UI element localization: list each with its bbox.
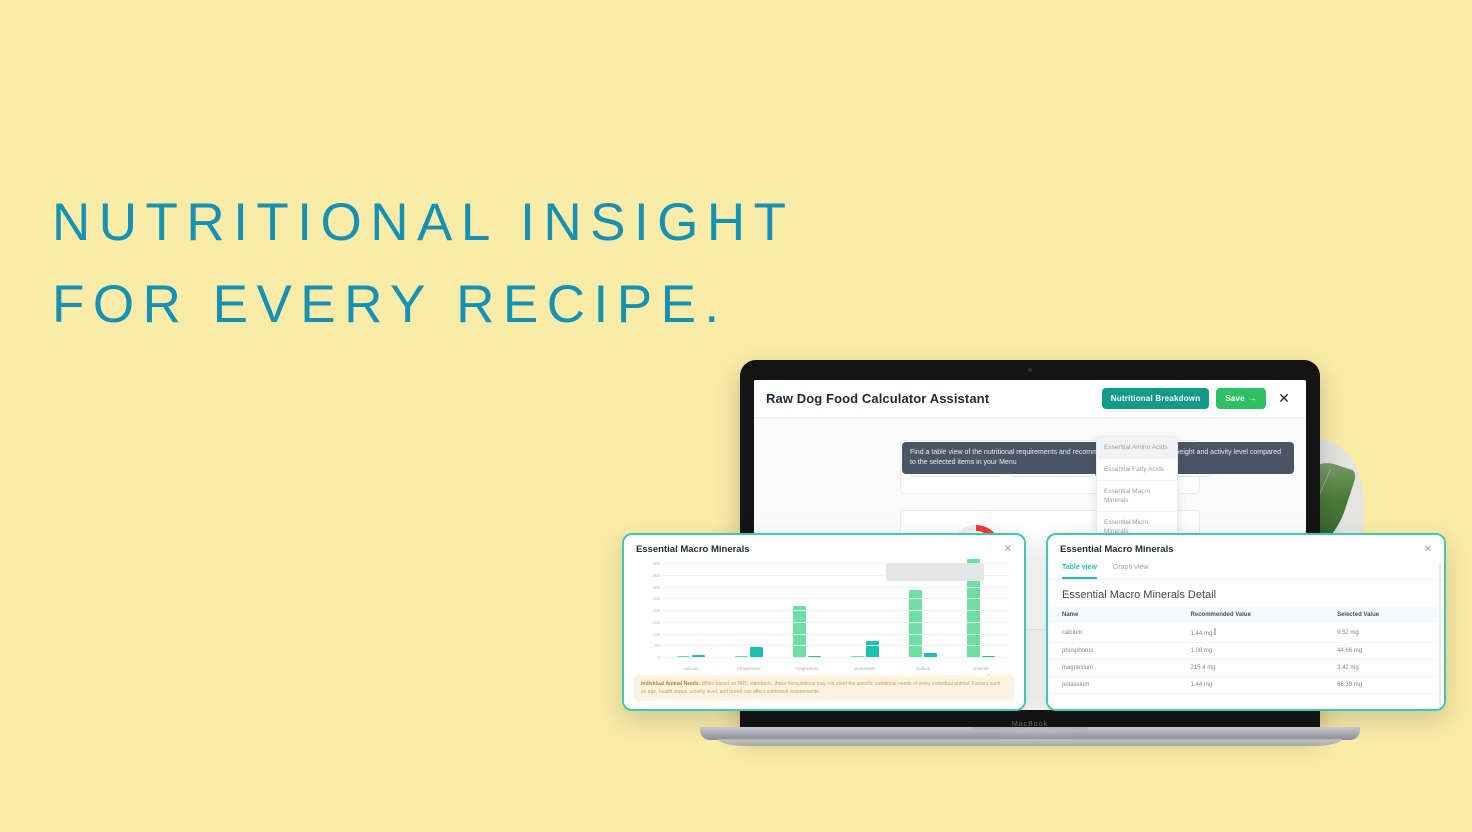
- individual-animal-needs-note: Individual Animal Needs: While based on …: [634, 675, 1014, 701]
- chart-close-icon[interactable]: ✕: [1004, 545, 1012, 555]
- cell-name: calcium: [1048, 623, 1191, 643]
- save-button-label: Save: [1225, 394, 1244, 403]
- table-row[interactable]: magnesium215.4 mg3.42 mg: [1048, 660, 1444, 677]
- chart-x-tick: potassium: [836, 666, 894, 671]
- chart-y-tick: 150: [636, 620, 660, 625]
- chart-y-tick: 200: [636, 608, 660, 613]
- chart-y-tick: 400: [636, 561, 660, 566]
- cell-name: magnesium: [1048, 660, 1191, 677]
- cell-selected-value: 3.42 mg: [1337, 660, 1444, 677]
- hero-headline: NUTRITIONAL INSIGHT FOR EVERY RECIPE.: [52, 182, 912, 346]
- cell-recommended-value: 1.08 mg: [1191, 643, 1338, 660]
- chart-x-tick: phosphorus: [720, 666, 778, 671]
- chart-x-tick: calcium: [662, 666, 720, 671]
- chart-y-tick: 50: [636, 643, 660, 648]
- table-panel: Essential Macro Minerals ✕ Table view Gr…: [1046, 533, 1446, 711]
- table-header-row: Name Recommended Value Selected Value: [1048, 607, 1444, 623]
- nutritional-breakdown-button[interactable]: Nutritional Breakdown: [1102, 388, 1210, 409]
- cell-recommended-value: 215.4 mg: [1191, 660, 1338, 677]
- chart-y-tick: 250: [636, 596, 660, 601]
- cell-recommended-value: 1.44 mg: [1191, 677, 1338, 694]
- column-selected-value: Selected Value: [1337, 607, 1444, 623]
- chart-y-tick: 0: [636, 655, 660, 660]
- cell-selected-value: 66.39 mg: [1337, 677, 1444, 694]
- app-title: Raw Dog Food Calculator Assistant: [766, 391, 989, 406]
- table-row[interactable]: phosphorus1.08 mg44.66 mg: [1048, 643, 1444, 660]
- tab-table-view[interactable]: Table view: [1062, 560, 1097, 579]
- dropdown-item-amino-acids[interactable]: Essential Amino Acids: [1097, 437, 1177, 459]
- table-close-icon[interactable]: ✕: [1424, 545, 1432, 555]
- cell-selected-value: 9.52 mg: [1337, 623, 1444, 643]
- chart-x-axis: calciumphosphorusmagnesiumpotassiumsodiu…: [662, 666, 1010, 671]
- save-button[interactable]: Save →: [1216, 388, 1266, 409]
- chart-gridline: [662, 634, 1010, 635]
- table-row[interactable]: potassium1.44 mg66.39 mg: [1048, 677, 1444, 694]
- minerals-table: Name Recommended Value Selected Value ca…: [1048, 607, 1444, 694]
- chart-panel: Essential Macro Minerals ✕ 4003503002502…: [622, 533, 1026, 711]
- chart-y-tick: 100: [636, 632, 660, 637]
- chart-x-tick: magnesium: [778, 666, 836, 671]
- app-header: Raw Dog Food Calculator Assistant Nutrit…: [754, 380, 1306, 418]
- cell-recommended-value: 1.44 mg: [1191, 623, 1338, 643]
- table-panel-title: Essential Macro Minerals: [1060, 544, 1174, 555]
- laptop-foot: [718, 739, 1342, 746]
- chart-x-tick: sodium: [894, 666, 952, 671]
- panel-tabs: Table view Graph view: [1048, 560, 1444, 580]
- text-cursor-icon: [1215, 628, 1216, 635]
- dropdown-item-macro-minerals[interactable]: Essential Macro Minerals: [1097, 481, 1177, 512]
- dropdown-item-fatty-acids[interactable]: Essential Fatty Acids: [1097, 459, 1177, 481]
- table-body: calcium1.44 mg9.52 mgphosphorus1.08 mg44…: [1048, 623, 1444, 694]
- chart-y-tick: 300: [636, 585, 660, 590]
- chart-bar[interactable]: [909, 590, 922, 657]
- headline-line-2: FOR EVERY RECIPE.: [52, 264, 912, 346]
- table-row[interactable]: calcium1.44 mg9.52 mg: [1048, 623, 1444, 643]
- chart-hover-tooltip: [886, 563, 984, 581]
- webcam-icon: [1028, 368, 1032, 372]
- chart-gridline: [662, 610, 1010, 611]
- chart-bar[interactable]: [750, 647, 763, 657]
- tab-graph-view[interactable]: Graph view: [1113, 560, 1148, 579]
- chart-panel-title: Essential Macro Minerals: [636, 544, 750, 555]
- chart-bar[interactable]: [866, 641, 879, 657]
- arrow-right-icon: →: [1249, 394, 1257, 403]
- cell-name: potassium: [1048, 677, 1191, 694]
- column-recommended-value: Recommended Value: [1191, 607, 1338, 623]
- cell-selected-value: 44.66 mg: [1337, 643, 1444, 660]
- close-icon[interactable]: ✕: [1274, 389, 1294, 409]
- chart-x-tick: chloride: [952, 666, 1010, 671]
- scrollbar[interactable]: [1439, 563, 1441, 705]
- chart-gridline: [662, 645, 1010, 646]
- table-head: Name Recommended Value Selected Value: [1048, 607, 1444, 623]
- column-name: Name: [1048, 607, 1191, 623]
- chart-gridline: [662, 657, 1010, 658]
- chart-gridline: [662, 587, 1010, 588]
- table-panel-header: Essential Macro Minerals ✕: [1048, 535, 1444, 560]
- chart-panel-header: Essential Macro Minerals ✕: [624, 535, 1024, 560]
- cell-name: phosphorus: [1048, 643, 1191, 660]
- chart-y-tick: 350: [636, 573, 660, 578]
- chart-bar[interactable]: [793, 606, 806, 657]
- detail-title: Essential Macro Minerals Detail: [1048, 580, 1444, 607]
- chart-gridline: [662, 598, 1010, 599]
- chart-gridline: [662, 622, 1010, 623]
- headline-line-1: NUTRITIONAL INSIGHT: [52, 182, 912, 264]
- note-label: Individual Animal Needs:: [641, 681, 700, 687]
